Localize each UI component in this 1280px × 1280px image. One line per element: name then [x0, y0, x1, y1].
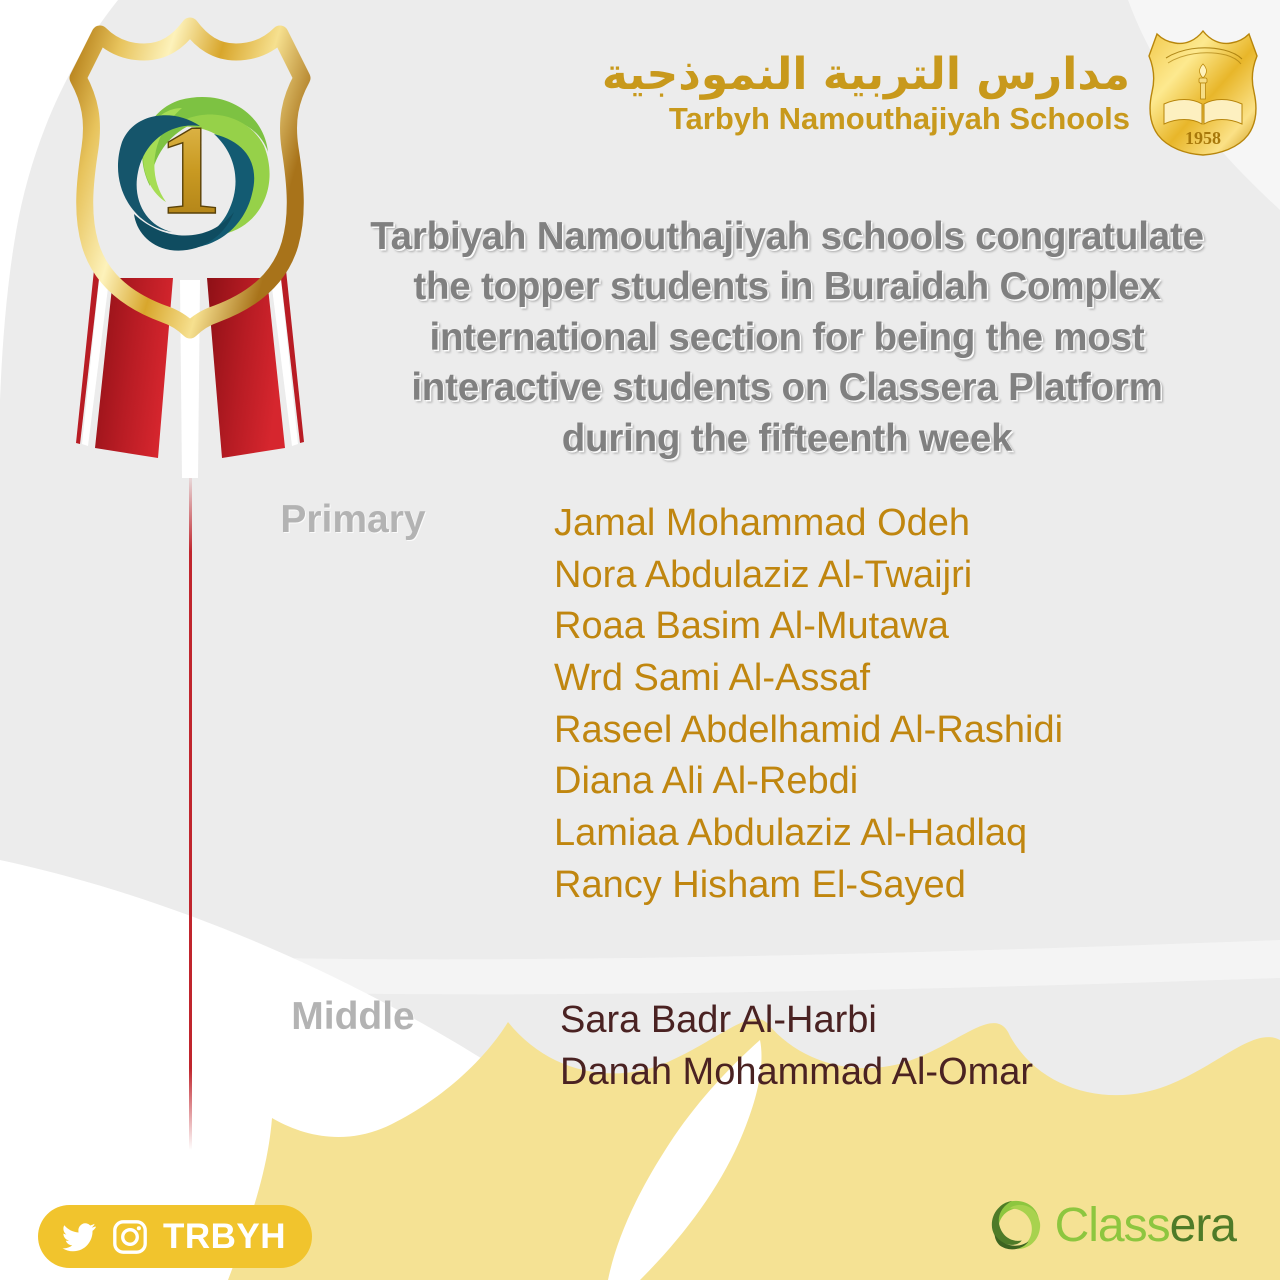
headline-line: during the fifteenth week — [322, 414, 1252, 464]
student-name: Sara Badr Al-Harbi — [560, 995, 1033, 1047]
section-label-middle: Middle — [188, 995, 518, 1039]
brand-name-english: Tarbyh Namouthajiyah Schools — [669, 103, 1130, 134]
classera-word-light: Class — [1055, 1199, 1170, 1252]
brand-name-arabic: مدارس التربية النموذجية — [602, 53, 1130, 97]
brand-header: مدارس التربية النموذجية Tarbyh Namouthaj… — [602, 28, 1262, 158]
student-name: Raseel Abdelhamid Al-Rashidi — [554, 705, 1063, 757]
social-handle-badge[interactable]: TRBYH — [38, 1205, 312, 1268]
emblem-year: 1958 — [1185, 128, 1221, 148]
student-name: Nora Abdulaziz Al-Twaijri — [554, 550, 1063, 602]
twitter-bird-icon[interactable] — [58, 1219, 100, 1255]
student-name: Danah Mohammad Al-Omar — [560, 1047, 1033, 1099]
headline-line: interactive students on Classera Platfor… — [322, 363, 1252, 413]
classera-logo: Classera — [987, 1196, 1236, 1254]
social-handle-label: TRBYH — [163, 1217, 286, 1257]
student-name: Roaa Basim Al-Mutawa — [554, 601, 1063, 653]
student-name: Jamal Mohammad Odeh — [554, 498, 1063, 550]
student-list-middle: Sara Badr Al-Harbi Danah Mohammad Al-Oma… — [560, 995, 1033, 1098]
poster-canvas: 1 مدارس التربية النموذجية Tarbyh Namouth… — [0, 0, 1280, 1280]
brand-name-block: مدارس التربية النموذجية Tarbyh Namouthaj… — [602, 53, 1130, 134]
section-label-primary: Primary — [188, 498, 518, 542]
section-primary: Primary Jamal Mohammad Odeh Nora Abdulaz… — [188, 498, 1063, 911]
headline-line: Tarbiyah Namouthajiyah schools congratul… — [322, 212, 1252, 262]
award-ribbon-icon: 1 — [40, 8, 340, 498]
instagram-camera-icon[interactable] — [111, 1218, 149, 1256]
headline-line: international section for being the most — [322, 313, 1252, 363]
student-name: Wrd Sami Al-Assaf — [554, 653, 1063, 705]
headline-text: Tarbiyah Namouthajiyah schools congratul… — [322, 212, 1252, 464]
badge-rank-number: 1 — [158, 99, 222, 241]
section-middle: Middle Sara Badr Al-Harbi Danah Mohammad… — [188, 995, 1033, 1098]
student-name: Diana Ali Al-Rebdi — [554, 756, 1063, 808]
student-list-primary: Jamal Mohammad Odeh Nora Abdulaziz Al-Tw… — [554, 498, 1063, 911]
classera-wordmark: Classera — [1055, 1198, 1236, 1253]
student-name: Lamiaa Abdulaziz Al-Hadlaq — [554, 808, 1063, 860]
classera-word-dark: era — [1170, 1199, 1236, 1252]
school-crest-icon: 1958 — [1144, 28, 1262, 158]
classera-swirl-icon — [987, 1196, 1045, 1254]
student-name: Rancy Hisham El-Sayed — [554, 860, 1063, 912]
headline-line: the topper students in Buraidah Complex — [322, 262, 1252, 312]
